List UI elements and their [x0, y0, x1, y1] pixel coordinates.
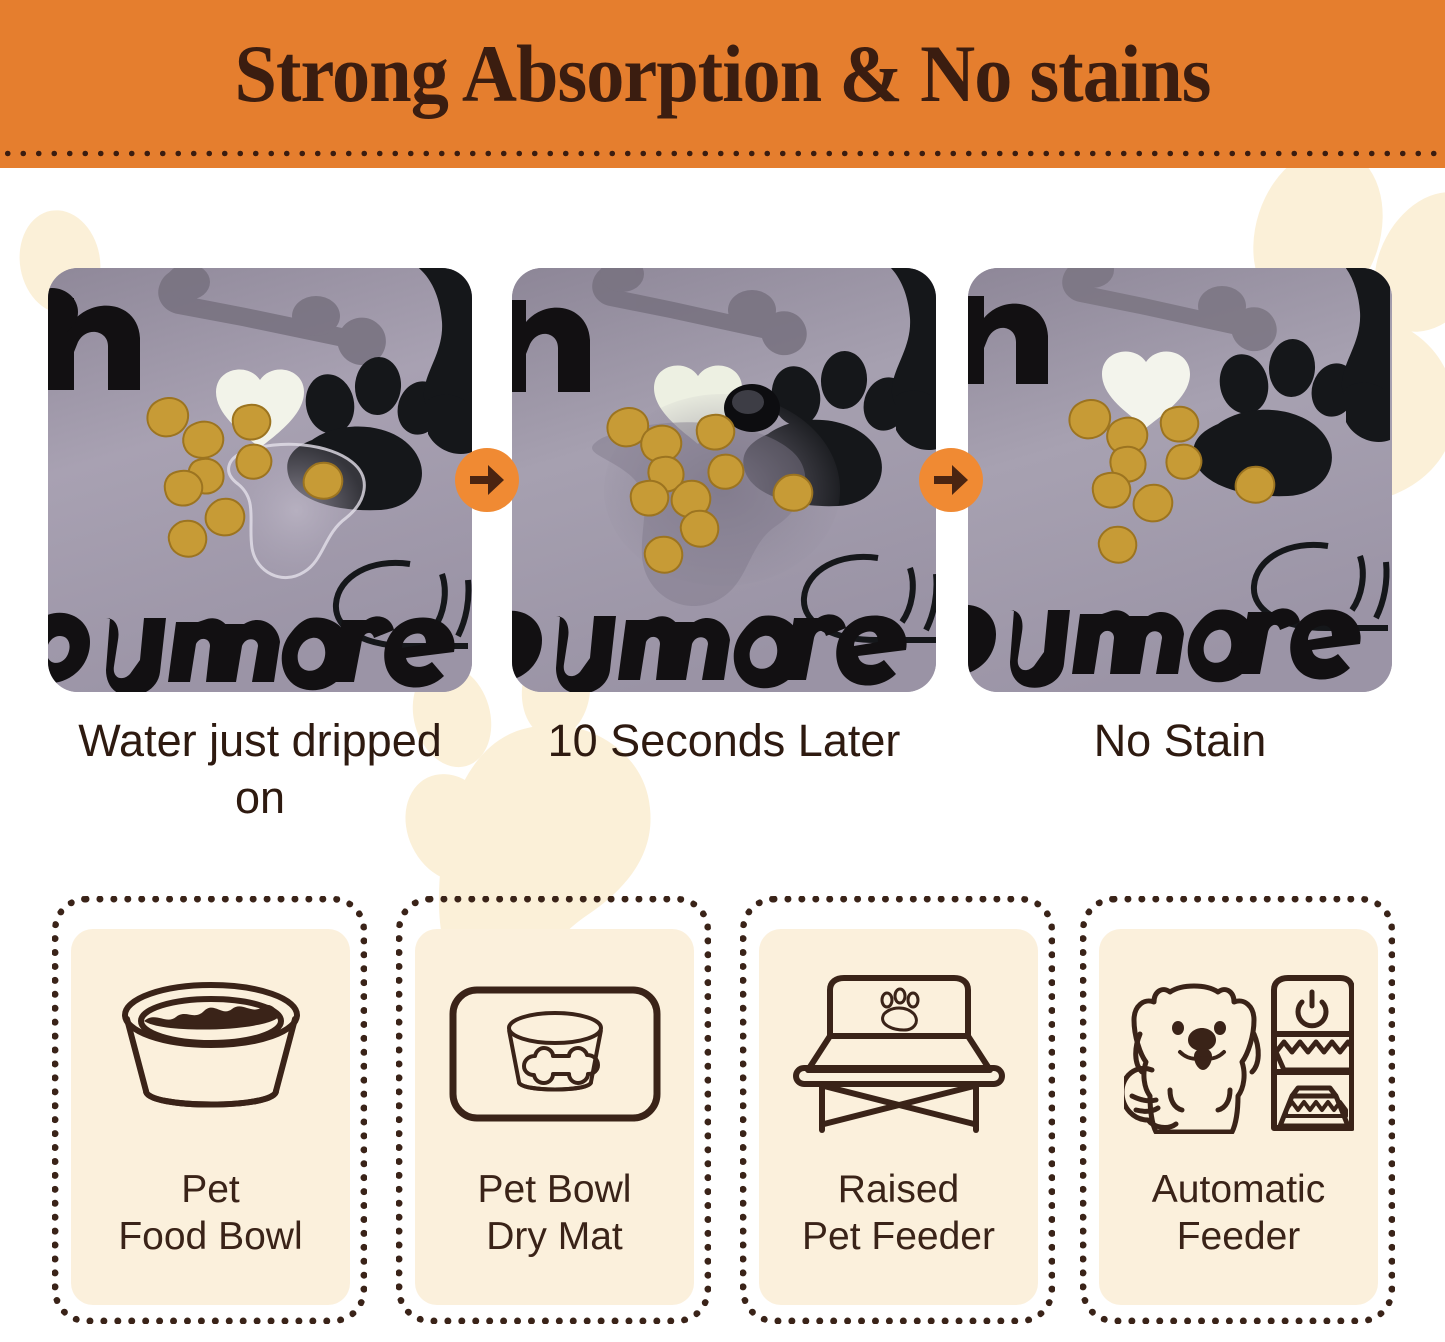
feature-card-label: Automatic Feeder — [1101, 1166, 1376, 1260]
feature-label-line1: Raised — [838, 1168, 959, 1211]
header-banner: Strong Absorption & No stains — [0, 0, 1445, 168]
pet-mat-photo — [968, 268, 1392, 692]
absorption-demo-row — [0, 268, 1445, 698]
infographic-page: Strong Absorption & No stains — [0, 0, 1445, 1342]
feature-label-line2: Dry Mat — [486, 1215, 623, 1258]
feature-card-inner: Raised Pet Feeder — [759, 929, 1038, 1305]
feature-label-line2: Food Bowl — [118, 1215, 302, 1258]
feature-card-pet-food-bowl: Pet Food Bowl — [52, 896, 367, 1324]
header-dotted-divider — [0, 148, 1445, 159]
arrow-right-icon — [455, 448, 519, 512]
feature-card-label: Pet Food Bowl — [73, 1166, 348, 1260]
feature-card-inner: Pet Bowl Dry Mat — [415, 929, 694, 1305]
feature-card-inner: Pet Food Bowl — [71, 929, 350, 1305]
demo-photo-no-stain — [968, 268, 1392, 692]
feature-card-automatic-feeder: Automatic Feeder — [1080, 896, 1395, 1324]
feature-card-inner: Automatic Feeder — [1099, 929, 1378, 1305]
pet-food-bowl-icon — [93, 951, 328, 1156]
feature-card-raised-pet-feeder: Raised Pet Feeder — [740, 896, 1055, 1324]
pet-bowl-dry-mat-icon — [437, 951, 672, 1156]
pet-mat-photo — [48, 268, 472, 692]
demo-photo-10-seconds-later — [512, 268, 936, 692]
feature-label-line1: Automatic — [1152, 1168, 1325, 1211]
caption-no-stain: No Stain — [968, 712, 1392, 769]
arrow-right-icon — [919, 448, 983, 512]
feature-card-label: Pet Bowl Dry Mat — [417, 1166, 692, 1260]
feature-label-line2: Pet Feeder — [802, 1215, 995, 1258]
page-title: Strong Absorption & No stains — [51, 26, 1395, 122]
feature-label-line2: Feeder — [1177, 1215, 1301, 1258]
feature-label-line1: Pet — [181, 1168, 240, 1211]
caption-water-dripped: Water just dripped on — [48, 712, 472, 826]
demo-captions-row: Water just dripped on 10 Seconds Later N… — [0, 712, 1445, 822]
feature-cards-row: Pet Food Bowl — [0, 896, 1445, 1326]
feature-card-pet-bowl-dry-mat: Pet Bowl Dry Mat — [396, 896, 711, 1324]
caption-10-seconds-later: 10 Seconds Later — [512, 712, 936, 769]
feature-label-line1: Pet Bowl — [478, 1168, 632, 1211]
demo-photo-water-dripped — [48, 268, 472, 692]
pet-mat-photo — [512, 268, 936, 692]
automatic-feeder-icon — [1121, 951, 1356, 1156]
raised-pet-feeder-icon — [781, 951, 1016, 1156]
feature-card-label: Raised Pet Feeder — [761, 1166, 1036, 1260]
